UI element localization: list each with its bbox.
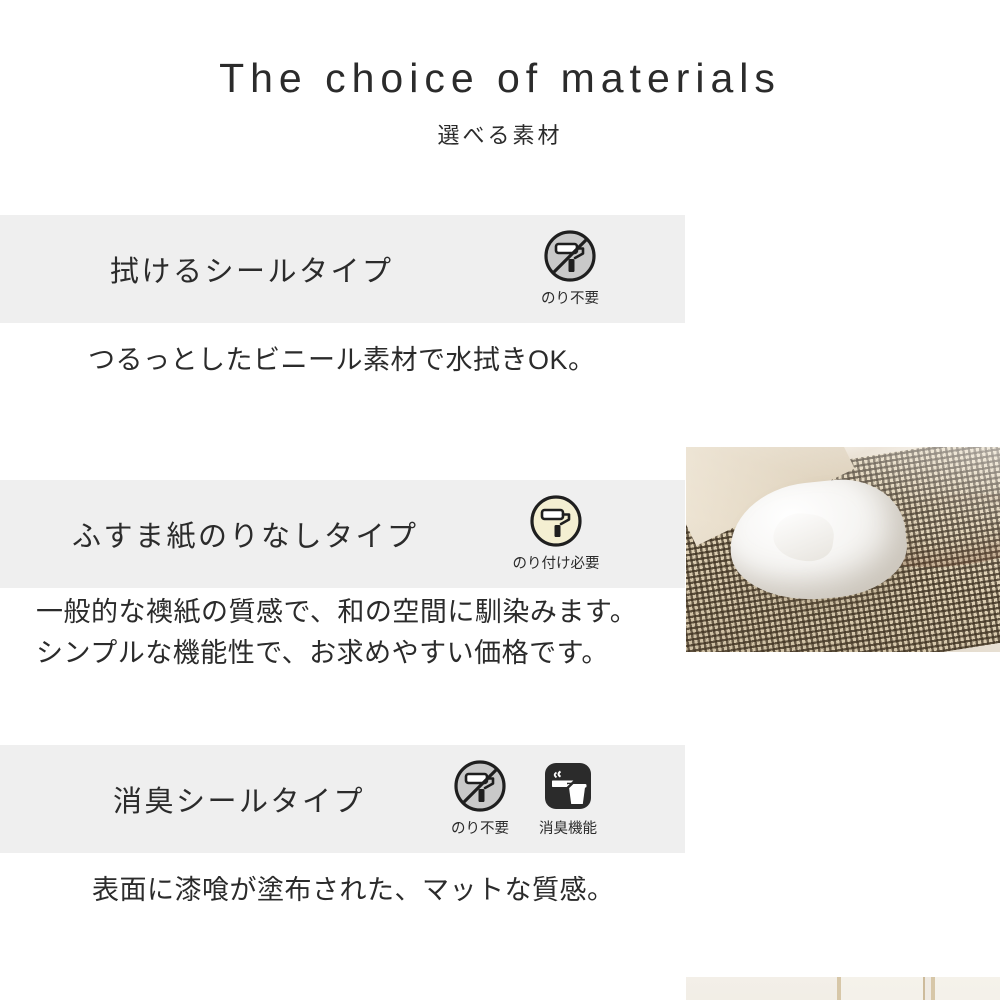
badge-no-glue: のり不要 <box>443 758 517 838</box>
description-line: 一般的な襖紙の質感で、和の空間に馴染みます。 <box>36 592 685 633</box>
page-title-block: The choice of materials 選べる素材 <box>0 54 1000 150</box>
page-title-english: The choice of materials <box>0 54 1000 103</box>
no-glue-roller-icon <box>452 758 508 814</box>
badge-glue-required: のり付け必要 <box>519 493 593 573</box>
badge-label: のり不要 <box>541 287 599 308</box>
badge-label: のり不要 <box>451 817 509 838</box>
material-section-deodorizing-seal: 消臭シールタイプ のり不要 <box>0 745 1000 990</box>
description-line: シンプルな機能性で、お求めやすい価格です。 <box>36 633 685 674</box>
badge-deodorize: 消臭機能 <box>531 758 605 838</box>
glue-roller-icon <box>528 493 584 549</box>
deodorize-icon <box>540 758 596 814</box>
material-section-wipeable-seal: 拭けるシールタイプ のり不要 つるっとしたビニール素材で水拭きOK。 <box>0 215 1000 460</box>
badge-no-glue: のり不要 <box>533 228 607 308</box>
section-badges: のり不要 消臭機能 <box>443 758 605 838</box>
section-title: 消臭シールタイプ <box>113 778 365 820</box>
materials-choice-page: The choice of materials 選べる素材 拭けるシールタイプ … <box>0 0 1000 1000</box>
section-description: 表面に漆喰が塗布された、マットな質感。 <box>0 870 685 911</box>
section-title: ふすま紙のりなしタイプ <box>72 513 419 555</box>
page-subtitle-japanese: 選べる素材 <box>0 118 1000 150</box>
description-line: つるっとしたビニール素材で水拭きOK。 <box>88 340 685 381</box>
section-badges: のり不要 <box>533 228 607 308</box>
section-title: 拭けるシールタイプ <box>110 248 394 290</box>
material-section-fusuma-no-glue: ふすま紙のりなしタイプ のり付け必要 一般的な襖紙の質感で、和の空間に馴染みます… <box>0 480 1000 725</box>
section-description: 一般的な襖紙の質感で、和の空間に馴染みます。 シンプルな機能性で、お求めやすい価… <box>0 592 685 673</box>
section-badges: のり付け必要 <box>519 493 593 573</box>
no-glue-roller-icon <box>542 228 598 284</box>
description-line: 表面に漆喰が塗布された、マットな質感。 <box>92 870 685 911</box>
badge-label: 消臭機能 <box>539 817 597 838</box>
section-description: つるっとしたビニール素材で水拭きOK。 <box>0 340 685 381</box>
badge-label: のり付け必要 <box>513 552 600 573</box>
